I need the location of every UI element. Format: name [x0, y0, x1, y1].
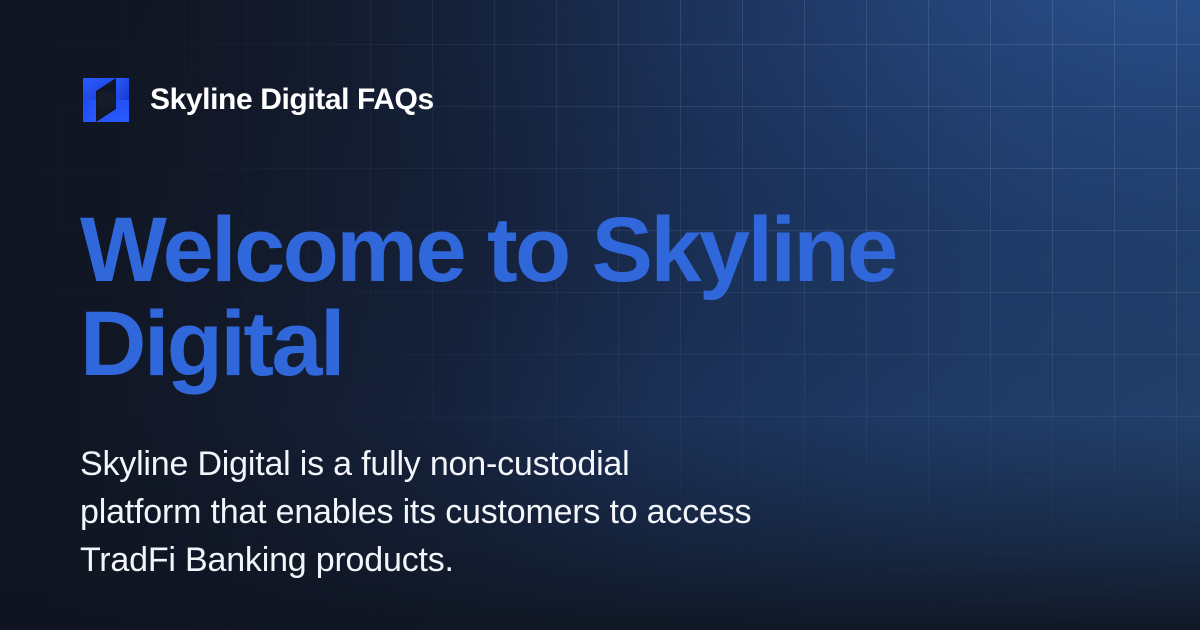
page-description-line-1: Skyline Digital is a fully non-custodial	[80, 440, 880, 488]
card-content: Skyline Digital FAQs Welcome to Skyline …	[0, 0, 1200, 630]
page-title-line-2: Digital	[80, 298, 1010, 392]
og-card: Skyline Digital FAQs Welcome to Skyline …	[0, 0, 1200, 630]
page-title: Welcome to Skyline Digital	[80, 204, 1010, 392]
brand-header: Skyline Digital FAQs	[80, 74, 1120, 126]
page-description: Skyline Digital is a fully non-custodial…	[80, 440, 880, 585]
page-title-line-1: Welcome to Skyline	[80, 204, 1010, 298]
page-description-line-2: platform that enables its customers to a…	[80, 488, 880, 536]
page-description-line-3: TradFi Banking products.	[80, 536, 880, 584]
brand-title: Skyline Digital FAQs	[150, 85, 434, 115]
skyline-s-mark-icon	[80, 74, 132, 126]
